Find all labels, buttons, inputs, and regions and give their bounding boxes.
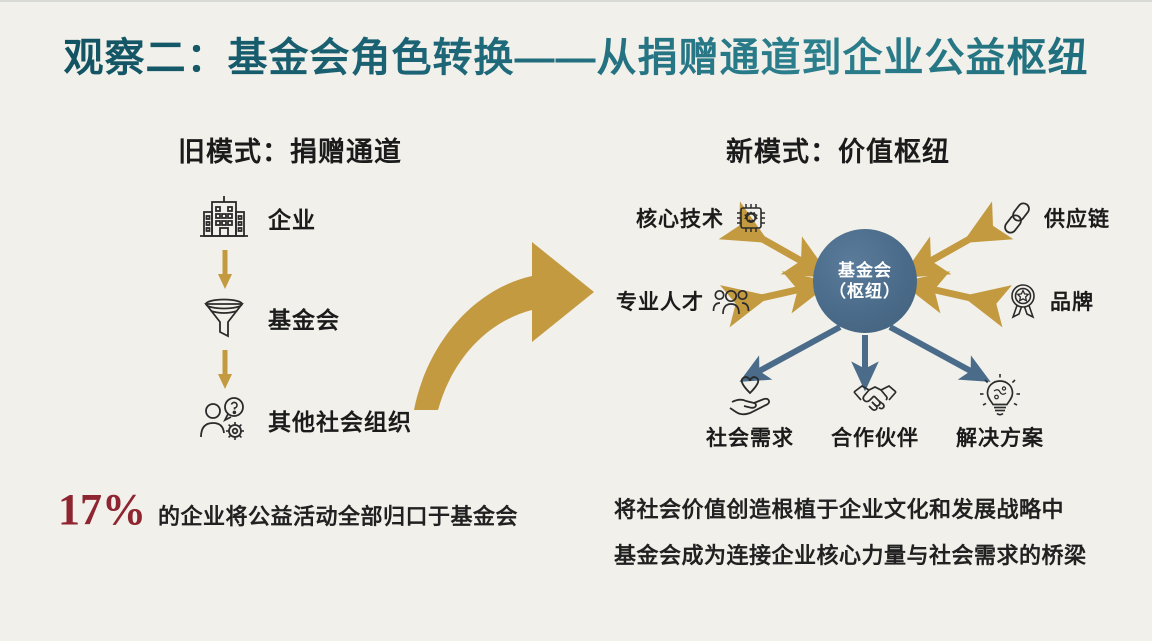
spoke-label-supply-chain: 供应链 (1044, 203, 1110, 233)
spoke-label-solution: 解决方案 (956, 422, 1044, 452)
person-question-gear-icon (196, 392, 252, 448)
spoke-label-core-technology: 核心技术 (636, 203, 724, 233)
microchip-icon (732, 199, 770, 237)
hub-line-2: （枢纽） (829, 281, 901, 302)
spoke-brand: 品牌 (1004, 282, 1094, 320)
down-arrow-icon-1 (218, 250, 232, 290)
flow-label-other-organizations: 其他社会组织 (268, 403, 412, 437)
footer-conclusion: 将社会价值创造根植于企业文化和发展战略中 基金会成为连接企业核心力量与社会需求的… (614, 492, 1087, 570)
hand-heart-icon (727, 373, 773, 419)
footer-line-2: 基金会成为连接企业核心力量与社会需求的桥梁 (614, 538, 1087, 570)
new-model-heading: 新模式：价值枢纽 (726, 130, 950, 169)
statistic-number: 17% (58, 488, 146, 532)
statistic-description: 的企业将公益活动全部归口于基金会 (158, 499, 518, 531)
footer-line-1: 将社会价值创造根植于企业文化和发展战略中 (614, 492, 1087, 524)
spoke-social-need: 社会需求 (695, 373, 805, 452)
handshake-icon (852, 373, 898, 419)
spoke-solution: 解决方案 (945, 373, 1055, 452)
chain-link-icon (998, 199, 1036, 237)
flow-node-foundation: 基金会 (196, 290, 340, 346)
office-building-icon (196, 190, 252, 246)
hub-center-foundation[interactable]: 基金会 （枢纽） (813, 229, 917, 333)
spoke-label-partner: 合作伙伴 (831, 422, 919, 452)
old-model-heading: 旧模式：捐赠通道 (178, 130, 402, 169)
spoke-partner: 合作伙伴 (820, 373, 930, 452)
people-group-icon (712, 282, 750, 320)
statistic-line: 17% 的企业将公益活动全部归口于基金会 (58, 488, 518, 532)
spoke-label-brand: 品牌 (1050, 286, 1094, 316)
spoke-supply-chain: 供应链 (998, 199, 1110, 237)
value-hub-diagram: 基金会 （枢纽） 核心技术 专业 (600, 177, 1130, 467)
spoke-label-social-need: 社会需求 (706, 422, 794, 452)
down-arrow-icon-2 (218, 350, 232, 390)
flow-node-other-organizations: 其他社会组织 (196, 392, 412, 448)
flow-label-foundation: 基金会 (268, 301, 340, 335)
flow-label-enterprise: 企业 (268, 201, 316, 235)
spoke-professional-talent: 专业人才 (616, 282, 750, 320)
hub-line-1: 基金会 (838, 260, 892, 281)
curved-right-arrow-icon (408, 230, 598, 415)
page-title: 观察二：基金会角色转换——从捐赠通道到企业公益枢纽 (0, 34, 1152, 82)
slide-canvas: 观察二：基金会角色转换——从捐赠通道到企业公益枢纽 旧模式：捐赠通道 企业 (0, 0, 1152, 641)
funnel-icon (196, 290, 252, 346)
flow-node-enterprise: 企业 (196, 190, 316, 246)
spoke-core-technology: 核心技术 (636, 199, 770, 237)
spoke-label-professional-talent: 专业人才 (616, 286, 704, 316)
lightbulb-icon (977, 373, 1023, 419)
award-ribbon-icon (1004, 282, 1042, 320)
